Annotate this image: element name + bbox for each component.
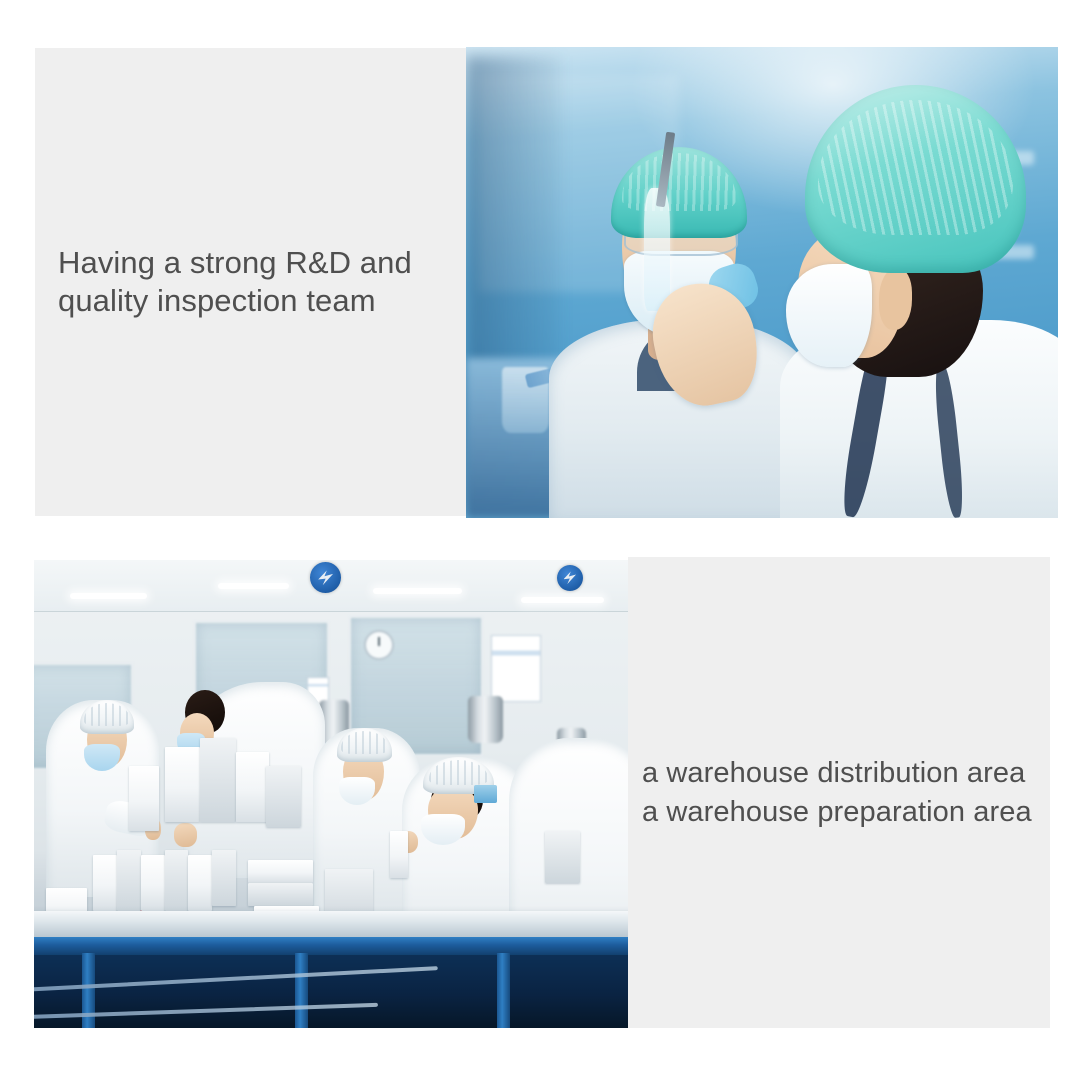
stainless-steel-table-top (34, 911, 628, 937)
carton-right-cluster (545, 831, 581, 882)
section-warehouse: a warehouse distribution area a warehous… (34, 557, 1050, 1028)
table-leg-right (497, 953, 510, 1028)
carton-stack-a (165, 747, 201, 822)
carton-row-5 (188, 855, 212, 911)
technician-front-hair-cap (611, 147, 746, 237)
table-blue-frame (34, 937, 628, 956)
lab-technician-profile (774, 47, 1058, 518)
lab-scene (466, 47, 1058, 518)
ceiling-light-3 (373, 588, 462, 594)
rnd-caption-text: Having a strong R&D and quality inspecti… (58, 244, 412, 320)
carton-row-6 (212, 850, 236, 906)
warehouse-caption-text: a warehouse distribution area a warehous… (642, 754, 1032, 831)
carton-flat-stack-b (248, 883, 313, 906)
blue-label-item (474, 785, 498, 804)
rnd-caption-panel: Having a strong R&D and quality inspecti… (35, 48, 466, 516)
steel-container-right (468, 696, 504, 743)
carton-row-1 (93, 855, 117, 911)
ceiling-light-4 (521, 597, 604, 603)
ceiling-light-2 (218, 583, 289, 589)
ceiling-light-1 (70, 593, 147, 599)
carton-row-2 (117, 850, 141, 911)
packing-scene (34, 560, 628, 1028)
wall-clock (364, 630, 394, 660)
warehouse-caption-panel: a warehouse distribution area a warehous… (628, 557, 1050, 1028)
section-rnd-quality: Having a strong R&D and quality inspecti… (35, 47, 1058, 518)
carton-tall-left (129, 766, 159, 832)
technician-profile-ear (879, 268, 913, 329)
carton-row-3 (141, 855, 165, 911)
carton-flat-stack-a (248, 860, 313, 883)
blue-circular-wall-sign-secondary (557, 565, 583, 591)
carton-single-tall (390, 831, 408, 878)
page-root: Having a strong R&D and quality inspecti… (0, 0, 1080, 1080)
carton-stack-b (200, 738, 236, 822)
carton-row-4 (165, 850, 189, 911)
technician-profile-hair-cap (805, 85, 1027, 273)
table-leg-center (295, 953, 308, 1028)
table-underside-shadow (34, 955, 628, 1028)
lab-glass-vial (644, 188, 671, 310)
carton-stack-d (266, 766, 302, 827)
rnd-lab-photo (466, 47, 1058, 518)
carton-stack-c (236, 752, 269, 822)
wall-document-notice (491, 635, 541, 703)
technician-profile-face-mask (786, 264, 872, 368)
worker-bending-hand (174, 823, 197, 847)
warehouse-packing-photo (34, 560, 628, 1028)
